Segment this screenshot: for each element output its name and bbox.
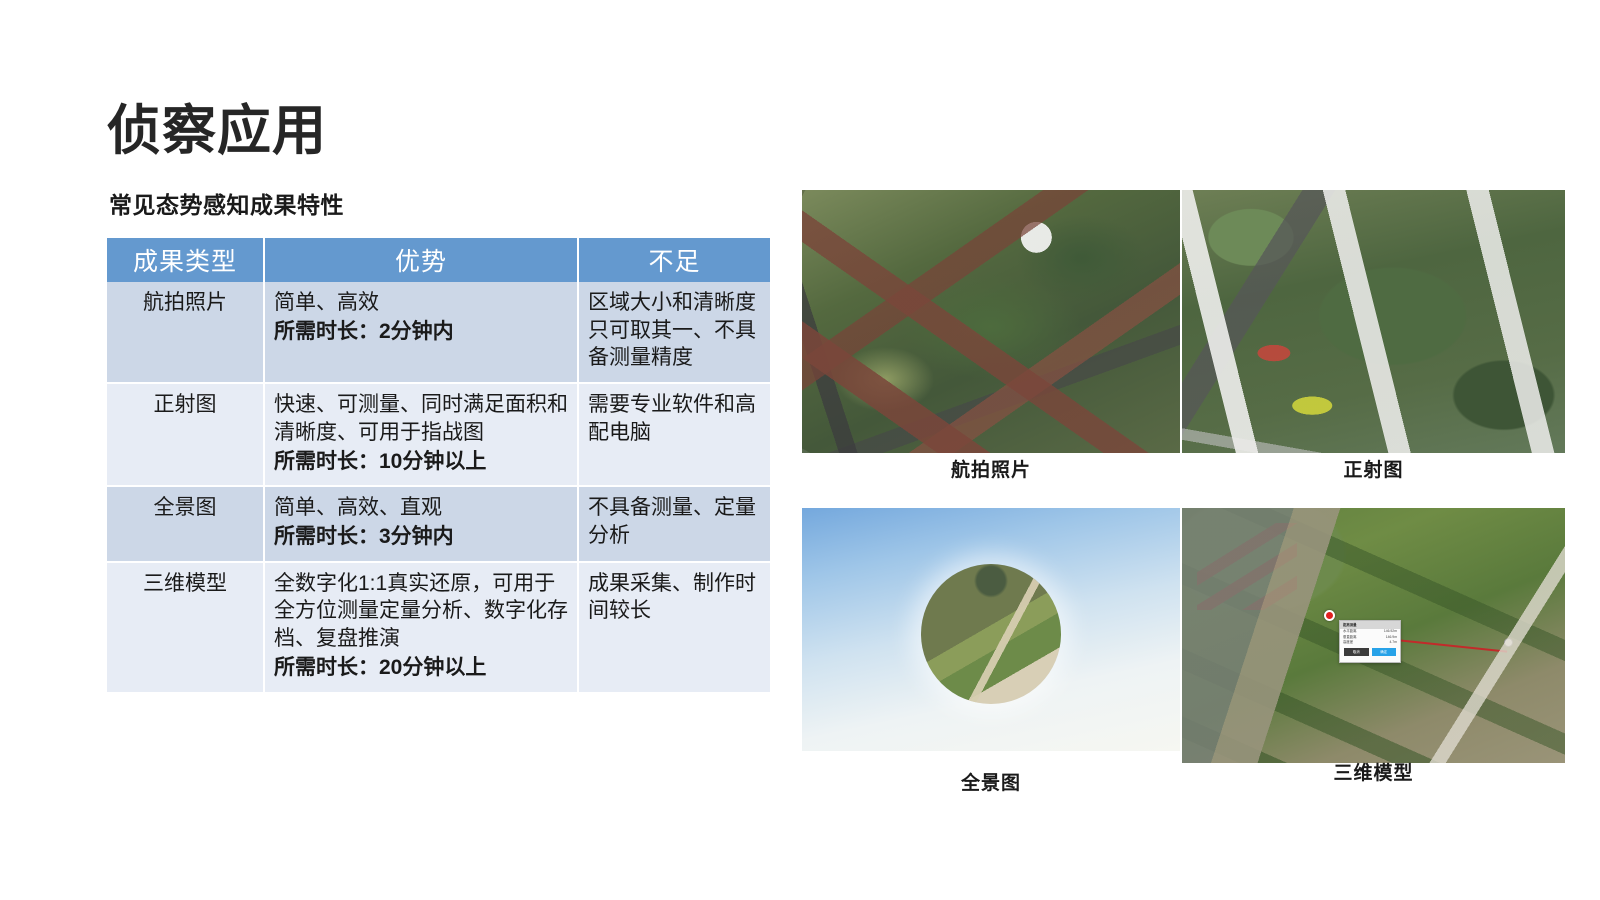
advantage-duration: 所需时长：10分钟以上 [274, 448, 568, 476]
panorama-planet-artwork [921, 564, 1061, 704]
column-header-shortcoming: 不足 [578, 238, 770, 282]
cell-shortcoming: 需要专业软件和高配电脑 [578, 383, 770, 486]
measurement-metric-row: 水平距离 146.92m [1340, 629, 1400, 635]
cell-shortcoming: 不具备测量、定量分析 [578, 486, 770, 561]
measurement-line [1339, 633, 1507, 653]
measurement-dialog-title: 距离测量 [1340, 621, 1400, 629]
caption-3d-model: 三维模型 [1182, 758, 1565, 785]
metric-label: 水平距离 [1343, 629, 1357, 635]
cancel-button[interactable]: 取消 [1344, 648, 1369, 656]
caption-orthophoto: 正射图 [1182, 455, 1565, 482]
metric-value: 4.7m [1389, 640, 1397, 646]
column-header-type: 成果类型 [107, 238, 264, 282]
advantage-text: 快速、可测量、同时满足面积和清晰度、可用于指战图 [274, 393, 568, 444]
column-header-advantage: 优势 [264, 238, 578, 282]
advantage-text: 简单、高效 [274, 291, 379, 314]
aerial-photo-artwork [802, 190, 1180, 453]
advantage-duration: 所需时长：2分钟内 [274, 318, 568, 346]
cell-advantage: 简单、高效、直观 所需时长：3分钟内 [264, 486, 578, 561]
caption-aerial-photo: 航拍照片 [802, 455, 1180, 482]
cell-shortcoming: 区域大小和清晰度只可取其一、不具备测量精度 [578, 282, 770, 383]
metric-value: 146.92m [1384, 629, 1397, 635]
caption-panorama: 全景图 [802, 768, 1180, 795]
cell-advantage: 简单、高效 所需时长：2分钟内 [264, 282, 578, 383]
cell-advantage: 全数字化1:1真实还原，可用于全方位测量定量分析、数字化存档、复盘推演 所需时长… [264, 562, 578, 692]
image-aerial-photo [802, 190, 1180, 453]
table-row: 正射图 快速、可测量、同时满足面积和清晰度、可用于指战图 所需时长：10分钟以上… [107, 383, 770, 486]
cell-type: 航拍照片 [107, 282, 264, 383]
image-orthophoto [1182, 190, 1565, 453]
cell-advantage: 快速、可测量、同时满足面积和清晰度、可用于指战图 所需时长：10分钟以上 [264, 383, 578, 486]
metric-label: 垂直距离 [1343, 635, 1357, 641]
cell-shortcoming: 成果采集、制作时间较长 [578, 562, 770, 692]
image-3d-model: 距离测量 水平距离 146.92m 垂直距离 146.9m 高度差 4.7m [1182, 508, 1565, 763]
table-row: 航拍照片 简单、高效 所需时长：2分钟内 区域大小和清晰度只可取其一、不具备测量… [107, 282, 770, 383]
table-header: 成果类型 优势 不足 [107, 238, 770, 282]
spec-table: 成果类型 优势 不足 航拍照片 简单、高效 所需时长：2分钟内 区域大小和清晰度… [107, 238, 770, 692]
page-subtitle: 常见态势感知成果特性 [109, 186, 344, 220]
model-village-roofs [1197, 523, 1297, 610]
model-terrain-artwork: 距离测量 水平距离 146.92m 垂直距离 146.9m 高度差 4.7m [1182, 508, 1565, 763]
advantage-text: 简单、高效、直观 [274, 496, 442, 519]
spec-table-wrapper: 成果类型 优势 不足 航拍照片 简单、高效 所需时长：2分钟内 区域大小和清晰度… [107, 238, 770, 692]
orthophoto-artwork [1182, 190, 1565, 453]
table-row: 三维模型 全数字化1:1真实还原，可用于全方位测量定量分析、数字化存档、复盘推演… [107, 562, 770, 692]
measurement-dialog: 距离测量 水平距离 146.92m 垂直距离 146.9m 高度差 4.7m [1339, 620, 1401, 663]
advantage-duration: 所需时长：3分钟内 [274, 523, 568, 551]
cell-type: 三维模型 [107, 562, 264, 692]
measurement-metric-row: 垂直距离 146.9m [1340, 635, 1400, 641]
panorama-sky-artwork [802, 508, 1180, 751]
measurement-metric-row: 高度差 4.7m [1340, 640, 1400, 646]
measurement-dialog-actions: 取消 确定 [1340, 646, 1400, 656]
cell-type: 正射图 [107, 383, 264, 486]
table-row: 全景图 简单、高效、直观 所需时长：3分钟内 不具备测量、定量分析 [107, 486, 770, 561]
advantage-duration: 所需时长：20分钟以上 [274, 654, 568, 682]
table-header-row: 成果类型 优势 不足 [107, 238, 770, 282]
page-title: 侦察应用 [107, 100, 327, 162]
slide-canvas: 侦察应用 常见态势感知成果特性 成果类型 优势 不足 航拍照片 简单、高效 所需… [0, 0, 1600, 900]
measurement-end-marker-icon [1504, 638, 1513, 647]
metric-label: 高度差 [1343, 640, 1353, 646]
image-panorama [802, 508, 1180, 751]
confirm-button[interactable]: 确定 [1372, 648, 1397, 656]
cell-type: 全景图 [107, 486, 264, 561]
advantage-text: 全数字化1:1真实还原，可用于全方位测量定量分析、数字化存档、复盘推演 [274, 572, 568, 650]
table-body: 航拍照片 简单、高效 所需时长：2分钟内 区域大小和清晰度只可取其一、不具备测量… [107, 282, 770, 692]
metric-value: 146.9m [1386, 635, 1397, 641]
measurement-start-marker-icon [1324, 610, 1335, 621]
